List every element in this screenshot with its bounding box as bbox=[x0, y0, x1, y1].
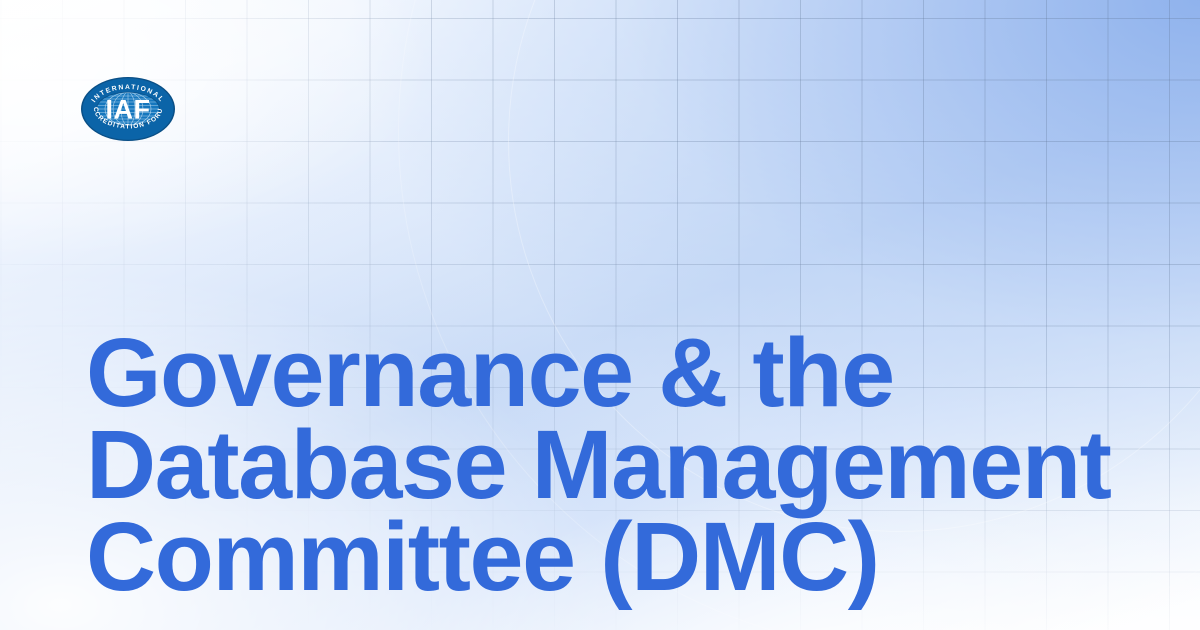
banner-canvas: INTERNATIONAL ACCREDITATION FORUM IAF Go… bbox=[0, 0, 1200, 630]
logo-acronym-text: IAF bbox=[106, 95, 151, 125]
iaf-logo: INTERNATIONAL ACCREDITATION FORUM IAF bbox=[80, 76, 176, 142]
page-title: Governance & the Database Management Com… bbox=[86, 327, 1156, 603]
